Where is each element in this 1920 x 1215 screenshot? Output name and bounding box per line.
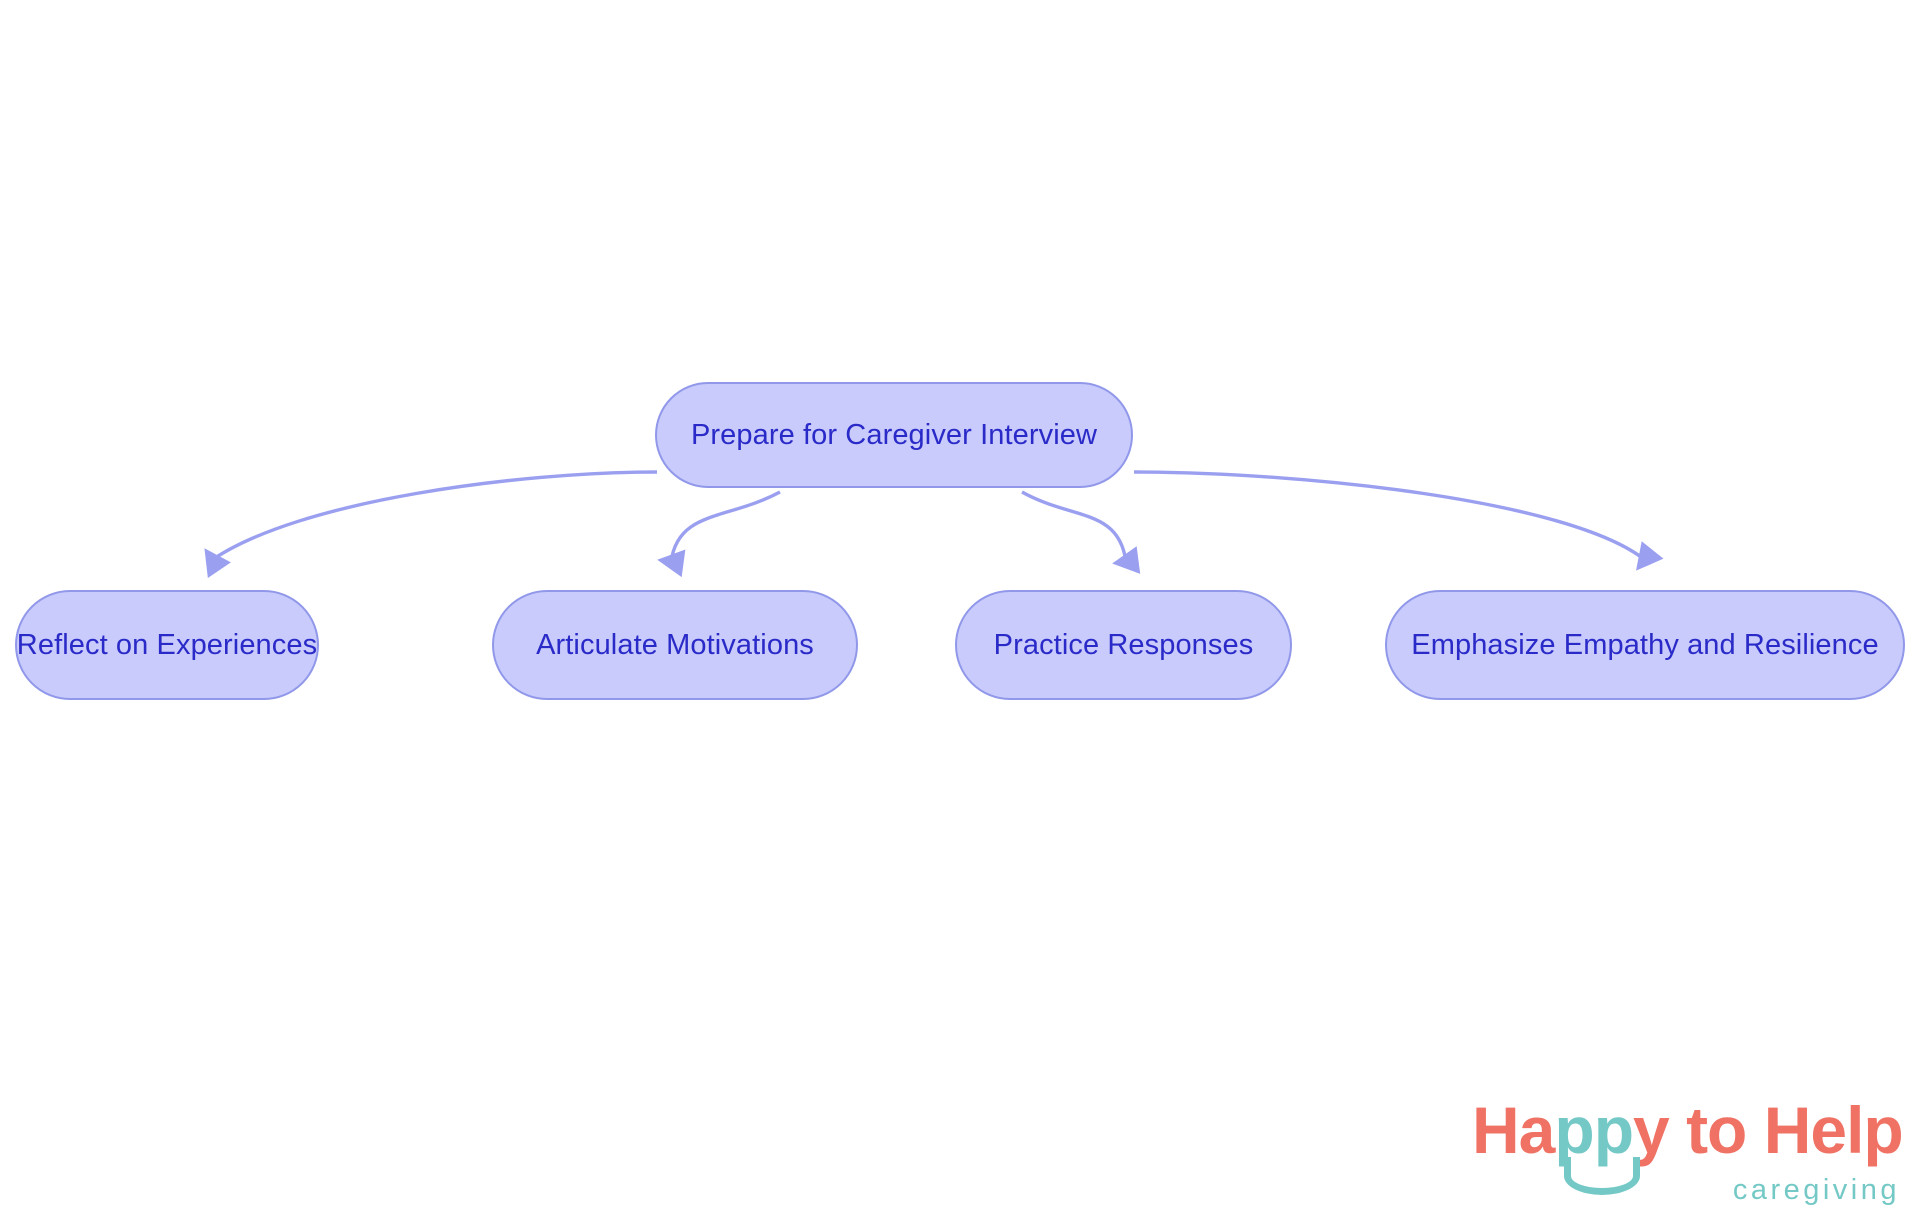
flowchart-canvas: Prepare for Caregiver Interview Reflect …: [0, 0, 1920, 1215]
node-label: Emphasize Empathy and Resilience: [1411, 631, 1878, 660]
node-label: Articulate Motivations: [536, 631, 814, 660]
edge-root-to-reflect-on-experiences: [212, 472, 657, 560]
smile-arc-icon: [1564, 1157, 1640, 1195]
brand-logo: Happy to Help caregiving: [1472, 1097, 1902, 1207]
logo-text-y: y: [1633, 1093, 1669, 1167]
node-label: Reflect on Experiences: [17, 631, 317, 660]
node-label: Prepare for Caregiver Interview: [691, 421, 1097, 450]
logo-text-to-help: to Help: [1669, 1093, 1903, 1167]
node-practice-responses[interactable]: Practice Responses: [955, 590, 1292, 700]
node-label: Practice Responses: [994, 631, 1254, 660]
logo-wordmark: Happy to Help: [1472, 1097, 1902, 1163]
edge-root-to-articulate-motivations: [671, 492, 780, 562]
logo-tagline: caregiving: [1733, 1176, 1900, 1205]
node-prepare-for-caregiver-interview[interactable]: Prepare for Caregiver Interview: [655, 382, 1133, 488]
logo-text-ha: Ha: [1472, 1093, 1554, 1167]
edge-root-to-practice-responses: [1022, 492, 1126, 562]
logo-text-pp: pp: [1554, 1093, 1633, 1167]
node-emphasize-empathy-and-resilience[interactable]: Emphasize Empathy and Resilience: [1385, 590, 1905, 700]
node-articulate-motivations[interactable]: Articulate Motivations: [492, 590, 858, 700]
node-reflect-on-experiences[interactable]: Reflect on Experiences: [15, 590, 319, 700]
edge-root-to-emphasize-empathy-and-resilience: [1134, 472, 1645, 560]
